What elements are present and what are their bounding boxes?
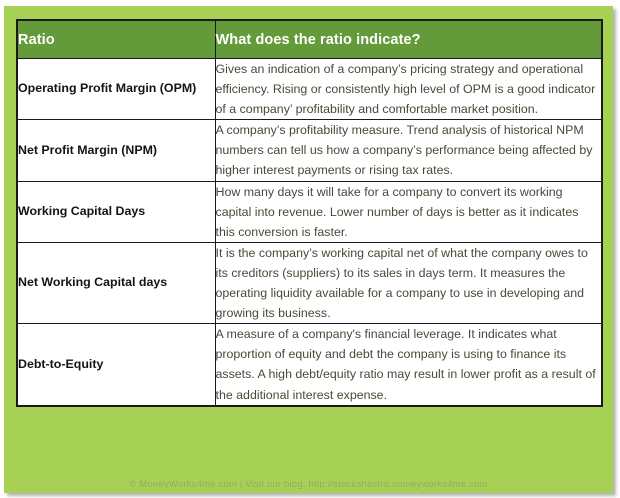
ratio-description-cell: How many days it will take for a company… <box>215 181 602 242</box>
green-frame: Ratio What does the ratio indicate? Oper… <box>4 6 613 493</box>
ratio-name-cell: Net Profit Margin (NPM) <box>17 120 215 181</box>
table-body: Operating Profit Margin (OPM) Gives an i… <box>17 59 602 406</box>
ratio-description-cell: Gives an indication of a company’s prici… <box>215 59 602 120</box>
financial-ratios-table: Ratio What does the ratio indicate? Oper… <box>16 19 603 407</box>
table-row: Debt-to-Equity A measure of a company's … <box>17 324 602 406</box>
table-header: Ratio What does the ratio indicate? <box>17 20 602 59</box>
column-header-indication: What does the ratio indicate? <box>215 20 602 59</box>
column-header-ratio: Ratio <box>17 20 215 59</box>
table-row: Working Capital Days How many days it wi… <box>17 181 602 242</box>
table-row: Operating Profit Margin (OPM) Gives an i… <box>17 59 602 120</box>
ratio-description-cell: A company’s profitability measure. Trend… <box>215 120 602 181</box>
footer-credit-text: © MoneyWorks4me.com | Visit our blog: ht… <box>4 476 613 493</box>
ratio-name-cell: Operating Profit Margin (OPM) <box>17 59 215 120</box>
ratio-description-cell: It is the company’s working capital net … <box>215 242 602 323</box>
ratio-name-cell: Working Capital Days <box>17 181 215 242</box>
ratio-name-cell: Net Working Capital days <box>17 242 215 323</box>
ratio-name-cell: Debt-to-Equity <box>17 324 215 406</box>
header-row: Ratio What does the ratio indicate? <box>17 20 602 59</box>
table-row: Net Profit Margin (NPM) A company’s prof… <box>17 120 602 181</box>
table-row: Net Working Capital days It is the compa… <box>17 242 602 323</box>
ratio-description-cell: A measure of a company's financial lever… <box>215 324 602 406</box>
